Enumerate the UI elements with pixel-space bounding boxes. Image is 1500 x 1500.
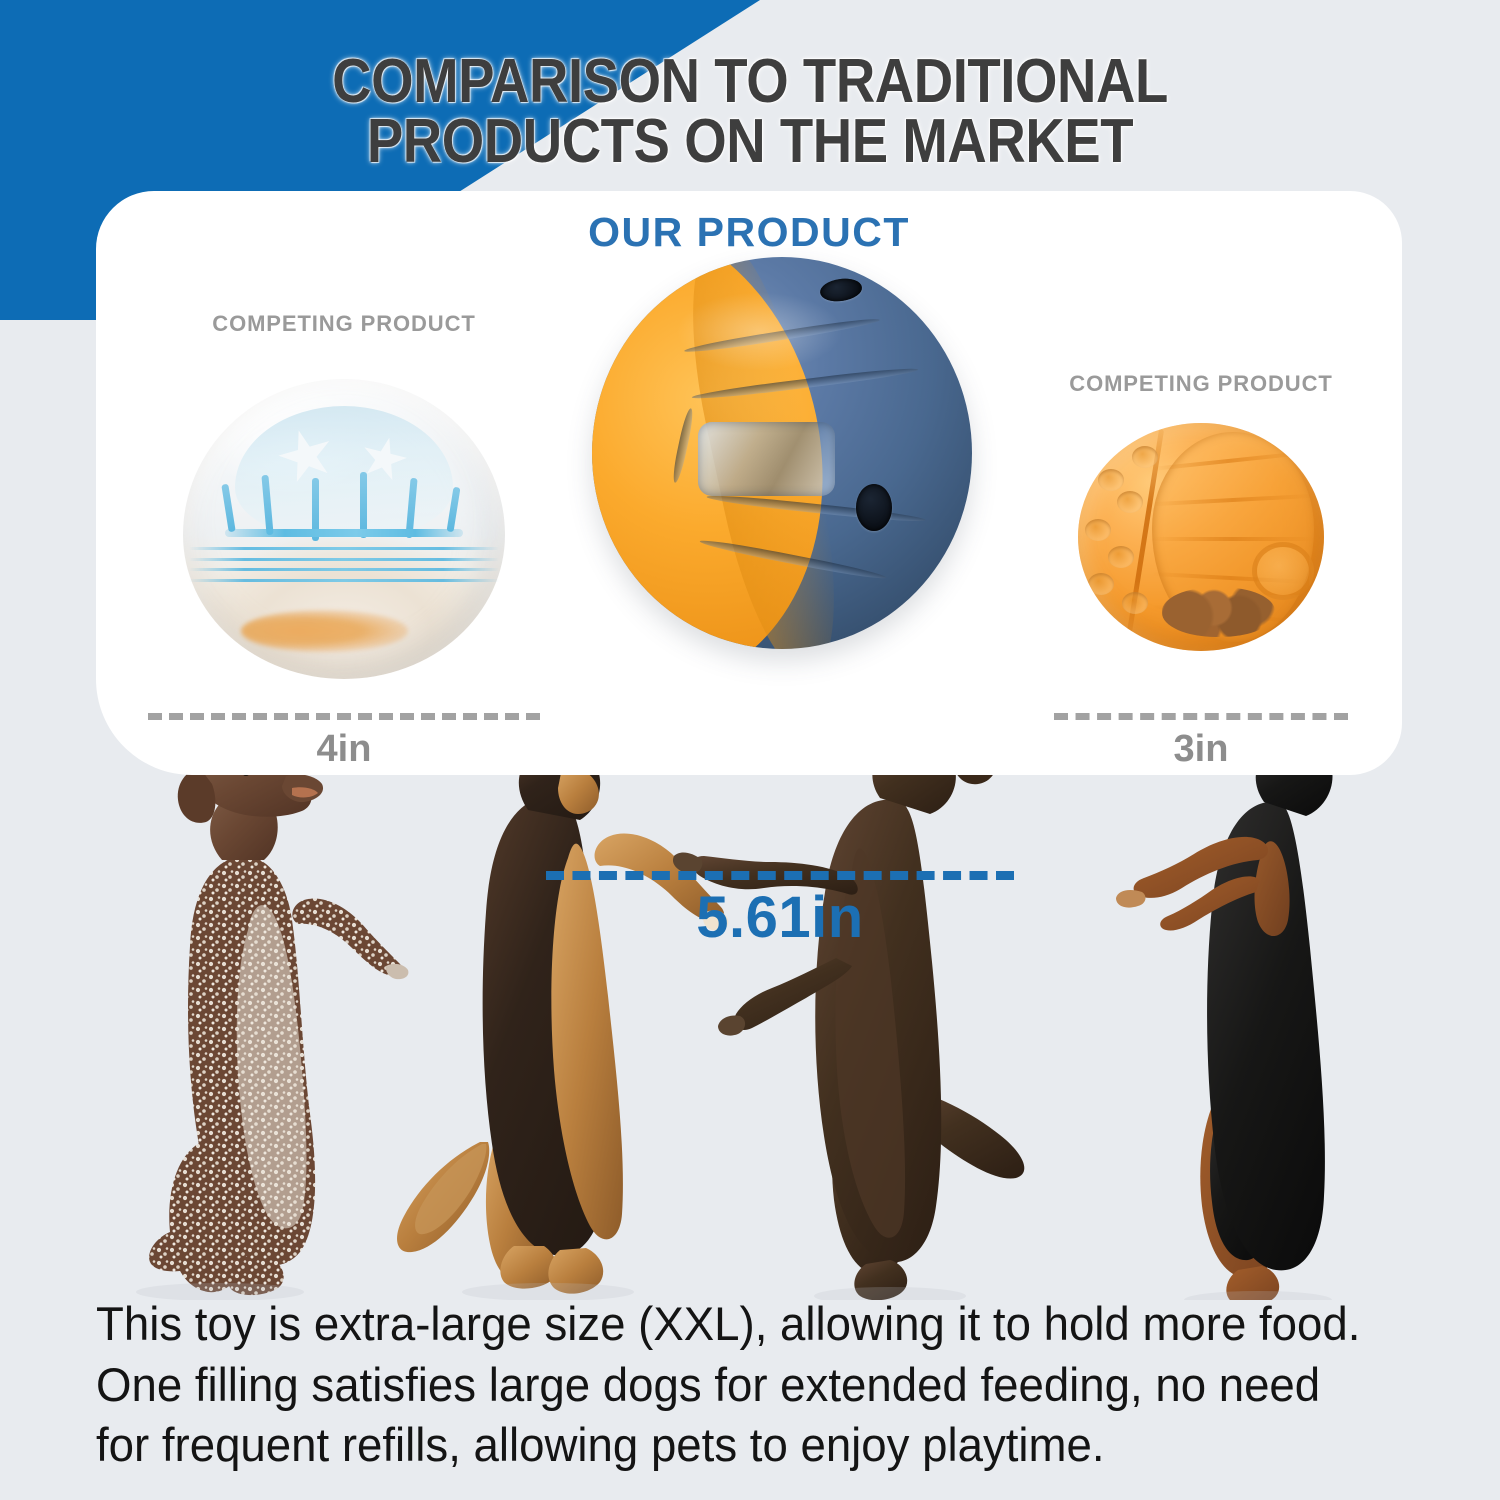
competing-right-label: COMPETING PRODUCT (1036, 371, 1366, 397)
product-column-competing-left: COMPETING PRODUCT 4in (148, 311, 540, 337)
measure-label-left: 4in (148, 728, 540, 771)
measure-competing-left: 4in (148, 713, 540, 771)
blue-orange-treat-ball-icon (570, 239, 990, 669)
orange-treat-ball-icon (1078, 423, 1324, 655)
clear-treat-ball-icon (173, 367, 515, 687)
competing-left-label: COMPETING PRODUCT (148, 311, 540, 337)
description-line-2: One filling satisfies large dogs for ext… (96, 1355, 1386, 1416)
dog-chocolate-labrador (673, 740, 1024, 1300)
description-line-1: This toy is extra-large size (XXL), allo… (96, 1294, 1386, 1355)
dogs-strip (0, 740, 1500, 1300)
measure-our-product: 5.61in (546, 871, 1014, 951)
measure-rule-left (148, 713, 540, 720)
dog-german-shorthaired-pointer (136, 754, 408, 1300)
page-title-line-1: COMPARISON TO TRADITIONAL (90, 52, 1410, 112)
dog-doberman-pinscher (1116, 740, 1333, 1300)
description-line-3: for frequent refills, allowing pets to e… (96, 1415, 1386, 1476)
description-paragraph: This toy is extra-large size (XXL), allo… (96, 1294, 1386, 1476)
measure-competing-right: 3in (1054, 713, 1348, 771)
measure-label-right: 3in (1054, 728, 1348, 771)
page-title: COMPARISON TO TRADITIONAL PRODUCTS ON TH… (90, 52, 1410, 171)
measure-label-centre: 5.61in (546, 884, 1014, 951)
measure-rule-right (1054, 713, 1348, 720)
page-title-line-2: PRODUCTS ON THE MARKET (90, 112, 1410, 172)
measure-rule-centre (546, 871, 1014, 880)
comparison-card: OUR PRODUCT COMPETING PRODUCT (96, 191, 1402, 775)
product-column-competing-right: COMPETING PRODUCT (1036, 371, 1366, 397)
dog-german-shepherd (397, 740, 728, 1300)
